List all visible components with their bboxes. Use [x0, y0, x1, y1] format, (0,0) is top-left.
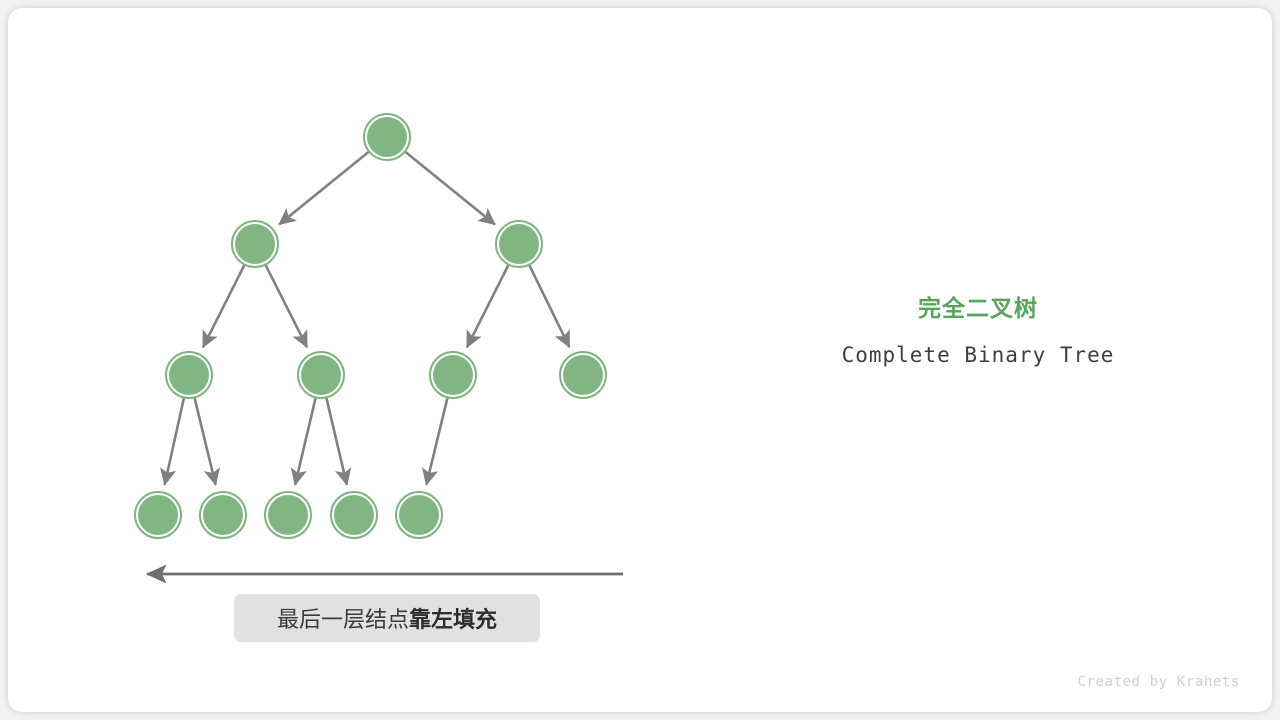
legend-block: 完全二叉树 Complete Binary Tree [768, 293, 1188, 369]
tree-edge [406, 152, 495, 224]
tree-edge [327, 398, 347, 484]
tree-node [166, 352, 212, 398]
node-circle [235, 224, 275, 264]
legend-title: 完全二叉树 [768, 293, 1188, 323]
tree-node [232, 221, 278, 267]
tree-node [396, 492, 442, 538]
node-circle [301, 355, 341, 395]
tree-node [265, 492, 311, 538]
node-circle [203, 495, 243, 535]
tree-node [298, 352, 344, 398]
tree-edge [530, 266, 570, 348]
credit-text: Created by Krahets [1077, 674, 1240, 690]
tree-node [364, 114, 410, 160]
node-circle [563, 355, 603, 395]
tree-edges [165, 152, 570, 485]
tree-edge [467, 265, 508, 347]
diagram-card: 完全二叉树 Complete Binary Tree 最后一层结点靠左填充 Cr… [8, 8, 1272, 712]
tree-nodes [135, 114, 606, 538]
caption-text-plain: 最后一层结点 [277, 607, 409, 632]
tree-node [331, 492, 377, 538]
tree-edge [195, 398, 216, 485]
caption-badge: 最后一层结点靠左填充 [234, 594, 540, 642]
node-circle [169, 355, 209, 395]
tree-node [560, 352, 606, 398]
screenshot-root: 完全二叉树 Complete Binary Tree 最后一层结点靠左填充 Cr… [0, 0, 1280, 720]
tree-edge [203, 265, 244, 347]
tree-node [135, 492, 181, 538]
node-circle [367, 117, 407, 157]
tree-edge [295, 398, 315, 484]
node-circle [399, 495, 439, 535]
tree-edge [279, 152, 368, 224]
caption-text-bold: 靠左填充 [409, 607, 497, 632]
tree-edge [426, 398, 447, 485]
node-circle [268, 495, 308, 535]
caption-text: 最后一层结点靠左填充 [277, 602, 497, 634]
tree-node [430, 352, 476, 398]
tree-node [496, 221, 542, 267]
tree-edge [266, 265, 307, 347]
tree-node [200, 492, 246, 538]
node-circle [334, 495, 374, 535]
node-circle [433, 355, 473, 395]
legend-subtitle: Complete Binary Tree [768, 341, 1188, 369]
node-circle [138, 495, 178, 535]
node-circle [499, 224, 539, 264]
tree-edge [165, 398, 184, 484]
